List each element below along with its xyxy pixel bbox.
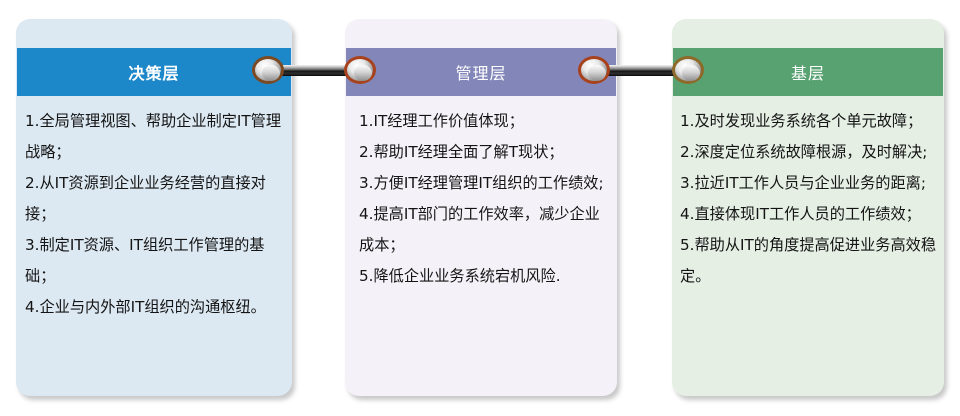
card-header-management-layer: 管理层 xyxy=(346,48,616,96)
card-header-decision-layer: 决策层 xyxy=(17,48,291,96)
list-item: 5.降低企业业务系统宕机风险. xyxy=(359,261,609,292)
card-body-management-layer: 1.IT经理工作价值体现； 2.帮助IT经理全面了解T现状； 3.方便IT经理管… xyxy=(345,96,617,396)
card-title-base-layer: 基层 xyxy=(791,60,825,84)
card-decision-layer[interactable]: 决策层 1.全局管理视图、帮助企业制定IT管理战略； 2.从IT资源到企业业务经… xyxy=(16,19,292,396)
list-item: 2.深度定位系统故障根源，及时解决; xyxy=(680,137,940,168)
card-body-base-layer: 1.及时发现业务系统各个单元故障； 2.深度定位系统故障根源，及时解决; 3.拉… xyxy=(672,96,944,396)
list-item: 4.直接体现IT工作人员的工作绩效； xyxy=(680,199,940,230)
list-item: 2.帮助IT经理全面了解T现状； xyxy=(359,137,609,168)
list-item: 4.提高IT部门的工作效率，减少企业成本； xyxy=(359,199,609,261)
diagram-canvas: 决策层 1.全局管理视图、帮助企业制定IT管理战略； 2.从IT资源到企业业务经… xyxy=(0,0,960,416)
list-item: 1.全局管理视图、帮助企业制定IT管理战略； xyxy=(25,106,286,168)
list-item: 5.帮助从IT的角度提高促进业务高效稳定。 xyxy=(680,230,940,292)
card-title-management-layer: 管理层 xyxy=(455,60,506,84)
list-item: 2.从IT资源到企业业务经营的直接对接； xyxy=(25,168,286,230)
list-item: 4.企业与内外部IT组织的沟通枢纽。 xyxy=(25,292,286,323)
card-management-layer[interactable]: 管理层 1.IT经理工作价值体现； 2.帮助IT经理全面了解T现状； 3.方便I… xyxy=(345,19,617,396)
card-body-decision-layer: 1.全局管理视图、帮助企业制定IT管理战略； 2.从IT资源到企业业务经营的直接… xyxy=(16,96,292,396)
list-item: 1.及时发现业务系统各个单元故障； xyxy=(680,106,940,137)
card-title-decision-layer: 决策层 xyxy=(128,60,179,84)
list-item: 1.IT经理工作价值体现； xyxy=(359,106,609,137)
list-item: 3.拉近IT工作人员与企业业务的距离; xyxy=(680,168,940,199)
card-header-base-layer: 基层 xyxy=(673,48,943,96)
card-base-layer[interactable]: 基层 1.及时发现业务系统各个单元故障； 2.深度定位系统故障根源，及时解决; … xyxy=(672,19,944,396)
list-item: 3.制定IT资源、IT组织工作管理的基础； xyxy=(25,230,286,292)
list-item: 3.方便IT经理管理IT组织的工作绩效; xyxy=(359,168,609,199)
